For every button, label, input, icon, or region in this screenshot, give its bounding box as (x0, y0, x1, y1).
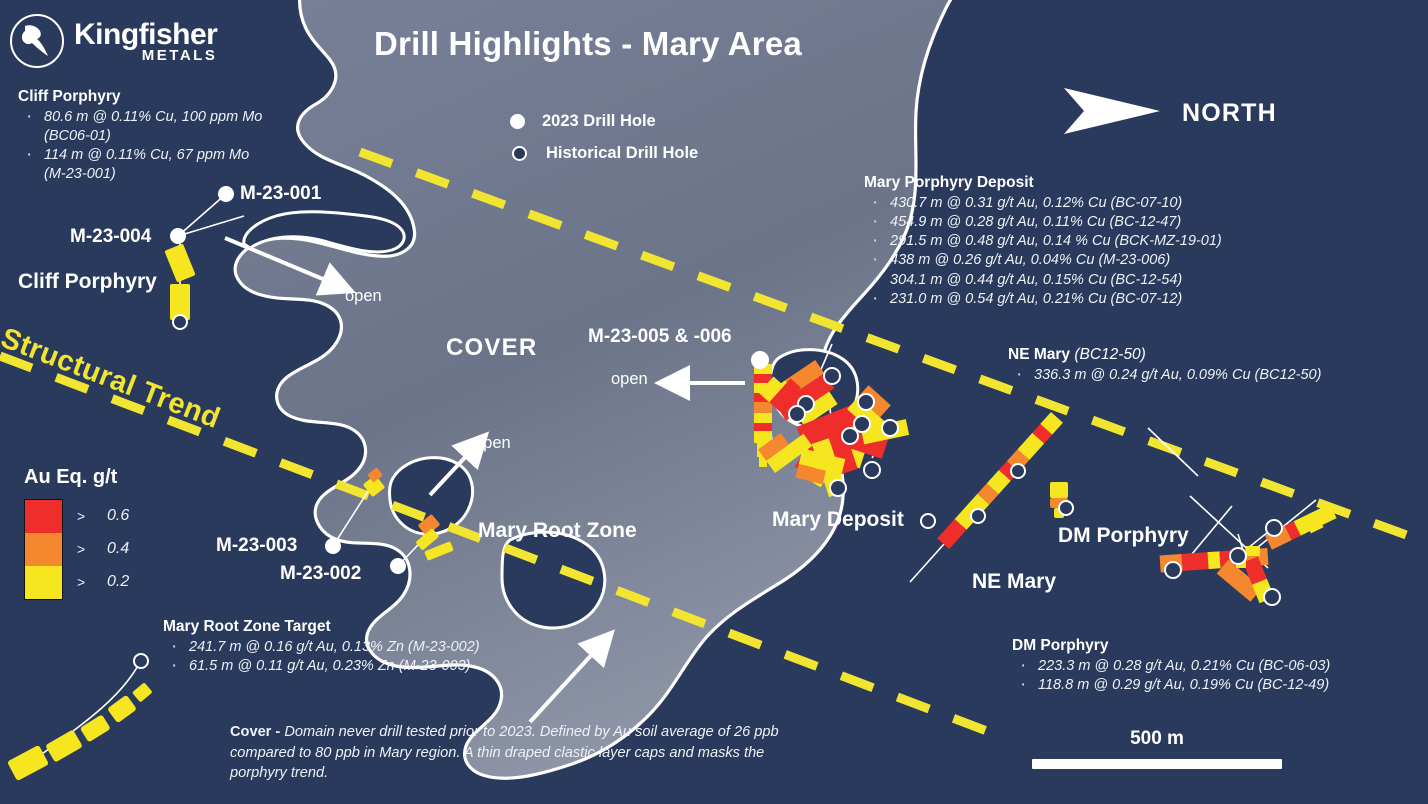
mary-deposit-intervals (754, 360, 909, 497)
au-eq-title: Au Eq. g/t (24, 466, 129, 489)
mary-porphyry-list: 430.7 m @ 0.31 g/t Au, 0.12% Cu (BC-07-1… (864, 194, 1222, 309)
au-eq-value-high: 0.6 (107, 507, 129, 525)
hollow-circle-icon (512, 146, 527, 161)
au-eq-row-high: > 0.6 (77, 499, 129, 532)
scale-bar-line (1032, 759, 1282, 769)
cover-note-text: Domain never drill tested prior to 2023.… (230, 724, 779, 781)
kingfisher-bird-icon (10, 14, 64, 68)
legend-label-2023: 2023 Drill Hole (542, 112, 656, 131)
list-item: 291.5 m @ 0.48 g/t Au, 0.14 % Cu (BCK-MZ… (864, 232, 1222, 251)
north-arrow-icon (1060, 84, 1164, 143)
list-item: 304.1 m @ 0.44 g/t Au, 0.15% Cu (BC-12-5… (864, 271, 1222, 290)
hole-label-m23004: M-23-004 (70, 226, 151, 248)
list-item: 118.8 m @ 0.29 g/t Au, 0.19% Cu (BC-12-4… (1012, 676, 1330, 695)
open-arrow-cliff (225, 238, 330, 282)
au-eq-value-mid: 0.4 (107, 540, 129, 558)
open-label-mary: open (611, 370, 648, 389)
au-eq-value-low: 0.2 (107, 573, 129, 591)
kingfisher-logo: Kingfisher METALS (10, 14, 217, 68)
ne-mary-heading-sub: (BC12-50) (1074, 346, 1146, 363)
map-figure: Kingfisher METALS Drill Highlights - Mar… (0, 0, 1428, 804)
mary-porphyry-block: Mary Porphyry Deposit 430.7 m @ 0.31 g/t… (864, 174, 1222, 309)
au-eq-row-low: > 0.2 (77, 565, 129, 598)
cover-label: COVER (446, 334, 537, 362)
list-item: 241.7 m @ 0.16 g/t Au, 0.13% Zn (M-23-00… (163, 638, 480, 657)
mary-deposit-map-label: Mary Deposit (772, 508, 904, 532)
ne-mary-small (1050, 482, 1068, 518)
structural-trend-label: Structural Trend (0, 322, 225, 436)
list-item: 80.6 m @ 0.11% Cu, 100 ppm Mo (18, 108, 262, 127)
dm-porphyry-heading: DM Porphyry (1012, 637, 1330, 655)
cover-island-mid (390, 458, 473, 535)
structural-trend-line-south (0, 356, 1000, 736)
dm-porphyry-map-label: DM Porphyry (1058, 524, 1189, 548)
list-item: 114 m @ 0.11% Cu, 67 ppm Mo (18, 146, 262, 165)
hole-label-m23003: M-23-003 (216, 535, 297, 557)
cover-note: Cover - Domain never drill tested prior … (230, 722, 788, 784)
mary-root-zone-map-label: Mary Root Zone (478, 519, 637, 543)
mary-root-heading: Mary Root Zone Target (163, 618, 480, 636)
scale-label: 500 m (1032, 728, 1282, 750)
list-item: (BC06-01) (18, 127, 262, 146)
cliff-porphyry-list: 80.6 m @ 0.11% Cu, 100 ppm Mo (BC06-01) … (18, 108, 262, 185)
filled-circle-icon (510, 114, 525, 129)
north-indicator: NORTH (1060, 84, 1277, 143)
list-item: 336.3 m @ 0.24 g/t Au, 0.09% Cu (BC12-50… (1008, 366, 1321, 385)
au-eq-swatch-mid (25, 533, 62, 566)
open-arrow-root (430, 452, 470, 495)
cover-notch-right (770, 350, 858, 428)
list-item: 454.9 m @ 0.28 g/t Au, 0.11% Cu (BC-12-4… (864, 213, 1222, 232)
hole-label-m23005-006: M-23-005 & -006 (588, 326, 732, 348)
list-item: 61.5 m @ 0.11 g/t Au, 0.23% Zn (M-23-003… (163, 657, 480, 676)
cover-note-bold: Cover - (230, 724, 284, 740)
ne-mary-intervals (937, 412, 1063, 549)
au-eq-row-mid: > 0.4 (77, 532, 129, 565)
au-eq-op-mid: > (77, 541, 107, 557)
au-eq-swatch-high (25, 500, 62, 533)
dm-porphyry-intervals (1160, 504, 1337, 603)
mary-root-list: 241.7 m @ 0.16 g/t Au, 0.13% Zn (M-23-00… (163, 638, 480, 676)
north-label: NORTH (1182, 99, 1277, 128)
open-label-root: open (474, 434, 511, 453)
scale-bar: 500 m (1032, 728, 1282, 769)
cliff-porphyry-map-label: Cliff Porphyry (18, 270, 157, 294)
au-eq-legend: Au Eq. g/t > 0.6 > 0.4 > 0.2 (24, 466, 129, 600)
mary-porphyry-heading: Mary Porphyry Deposit (864, 174, 1222, 192)
ne-mary-map-label: NE Mary (972, 570, 1056, 594)
au-eq-op-high: > (77, 508, 107, 524)
ne-mary-block: NE Mary (BC12-50) 336.3 m @ 0.24 g/t Au,… (1008, 346, 1321, 385)
cliff-porphyry-heading: Cliff Porphyry (18, 88, 262, 106)
au-eq-op-low: > (77, 574, 107, 590)
list-item: 430.7 m @ 0.31 g/t Au, 0.12% Cu (BC-07-1… (864, 194, 1222, 213)
cover-island-upper (244, 212, 404, 252)
ne-mary-heading: NE Mary (BC12-50) (1008, 346, 1321, 364)
legend-item-historical: Historical Drill Hole (510, 137, 698, 169)
list-item: 231.0 m @ 0.54 g/t Au, 0.21% Cu (BC-07-1… (864, 290, 1222, 309)
list-item: 223.3 m @ 0.28 g/t Au, 0.21% Cu (BC-06-0… (1012, 657, 1330, 676)
legend-label-historical: Historical Drill Hole (546, 144, 698, 163)
ne-mary-heading-main: NE Mary (1008, 346, 1074, 363)
list-item: (M-23-001) (18, 165, 262, 184)
cliff-porphyry-block: Cliff Porphyry 80.6 m @ 0.11% Cu, 100 pp… (18, 88, 262, 185)
ne-mary-list: 336.3 m @ 0.24 g/t Au, 0.09% Cu (BC12-50… (1008, 366, 1321, 385)
hole-label-m23002: M-23-002 (280, 563, 361, 585)
drill-hole-legend: 2023 Drill Hole Historical Drill Hole (510, 105, 698, 169)
au-eq-color-bar (24, 499, 63, 600)
open-label-cliff: open (345, 287, 382, 306)
hole-label-m23001: M-23-001 (240, 183, 321, 205)
mary-root-block: Mary Root Zone Target 241.7 m @ 0.16 g/t… (163, 618, 480, 676)
dm-porphyry-block: DM Porphyry 223.3 m @ 0.28 g/t Au, 0.21%… (1012, 637, 1330, 695)
au-eq-swatch-low (25, 566, 62, 599)
list-item: 438 m @ 0.26 g/t Au, 0.04% Cu (M-23-006) (864, 251, 1222, 270)
brand-name: Kingfisher (74, 20, 217, 50)
page-title: Drill Highlights - Mary Area (374, 25, 802, 63)
legend-item-2023: 2023 Drill Hole (510, 105, 698, 137)
dm-porphyry-list: 223.3 m @ 0.28 g/t Au, 0.21% Cu (BC-06-0… (1012, 657, 1330, 695)
cover-island-lower (502, 532, 605, 628)
callout-arrow-cover-note (530, 650, 596, 722)
